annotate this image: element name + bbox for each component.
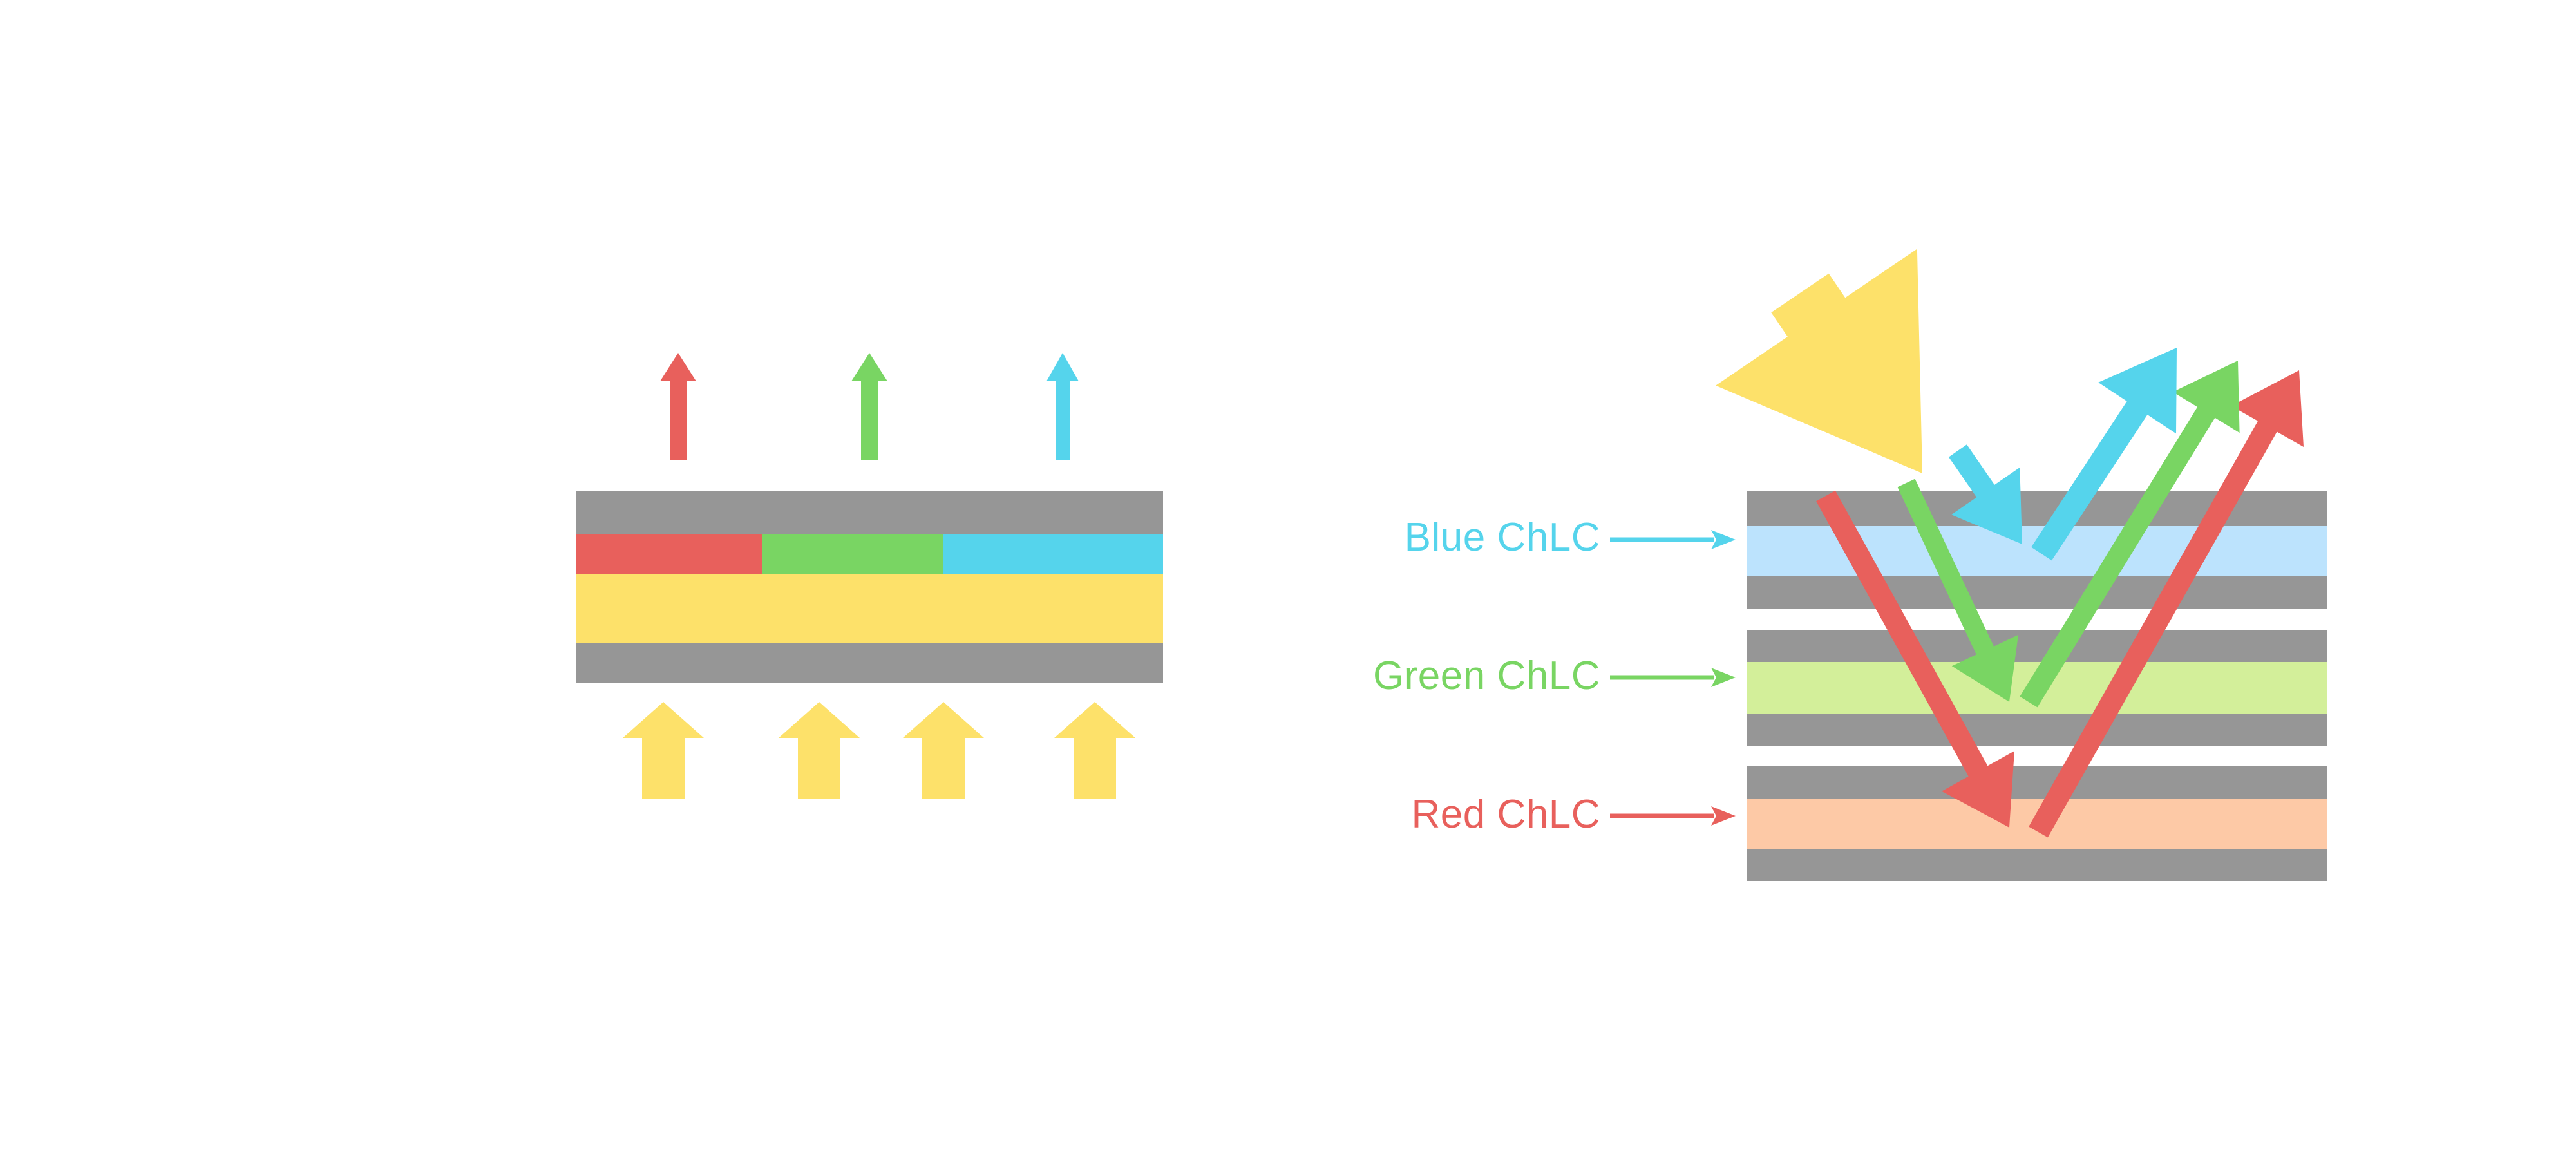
- figure-root: Blue ChLCGreen ChLCRed ChLC: [0, 0, 2576, 1154]
- green-chlc-label-pointer-head: [1711, 668, 1736, 687]
- left-panel-emissive-stack: [576, 353, 1163, 799]
- red-chlc-label-text: Red ChLC: [1412, 792, 1600, 837]
- green-cell-top-electrode: [1747, 630, 2327, 662]
- blue-chlc-layer: [1747, 526, 2327, 576]
- green-filter-segment: [762, 534, 943, 574]
- blue-chlc-label: Blue ChLC: [1405, 515, 1736, 560]
- backlight-arrow-1: [623, 702, 704, 799]
- chlc-label-group: Blue ChLCGreen ChLCRed ChLC: [1373, 515, 1736, 837]
- cyan-filter-segment: [943, 534, 1163, 574]
- backlight-arrow-2: [779, 702, 860, 799]
- blue-chlc-label-pointer: [1610, 530, 1736, 549]
- green-chlc-label-pointer: [1610, 668, 1736, 687]
- bottom-gray-substrate: [576, 643, 1163, 683]
- green-emitted-arrow: [851, 353, 887, 460]
- backlight-arrow-4: [1054, 702, 1135, 799]
- red-emitted-arrow: [660, 353, 696, 460]
- red-chlc-label: Red ChLC: [1412, 792, 1736, 837]
- cyan-emitted-arrow: [1046, 353, 1079, 460]
- left-display-stack: [576, 491, 1163, 683]
- green-cell-bottom-electrode: [1747, 714, 2327, 746]
- blue-chlc-label-pointer-head: [1711, 530, 1736, 549]
- blue-cell-bottom-electrode: [1747, 576, 2327, 609]
- red-cell-top-electrode: [1747, 766, 2327, 799]
- white-light-incident-arrow: [1716, 249, 1922, 474]
- red-cell-bottom-electrode: [1747, 849, 2327, 881]
- red-chlc-label-pointer-head: [1711, 806, 1736, 826]
- backlight-arrow-3: [903, 702, 984, 799]
- top-gray-substrate: [576, 491, 1163, 534]
- blue-chlc-label-text: Blue ChLC: [1405, 515, 1600, 560]
- red-chlc-label-pointer: [1610, 806, 1736, 826]
- right-panel-reflective-stack: Blue ChLCGreen ChLCRed ChLC: [1373, 249, 2327, 882]
- color-filter-row: [576, 534, 1163, 574]
- green-chlc-label: Green ChLC: [1373, 654, 1736, 698]
- green-chlc-label-text: Green ChLC: [1373, 654, 1600, 698]
- diagram-canvas: Blue ChLCGreen ChLCRed ChLC: [0, 0, 2576, 1154]
- red-filter-segment: [576, 534, 762, 574]
- emitted-light-arrow-group: [660, 353, 1079, 460]
- yellow-backlight-layer: [576, 574, 1163, 643]
- incident-light-arrow-group: [1716, 249, 1922, 474]
- backlight-arrow-group: [623, 702, 1135, 799]
